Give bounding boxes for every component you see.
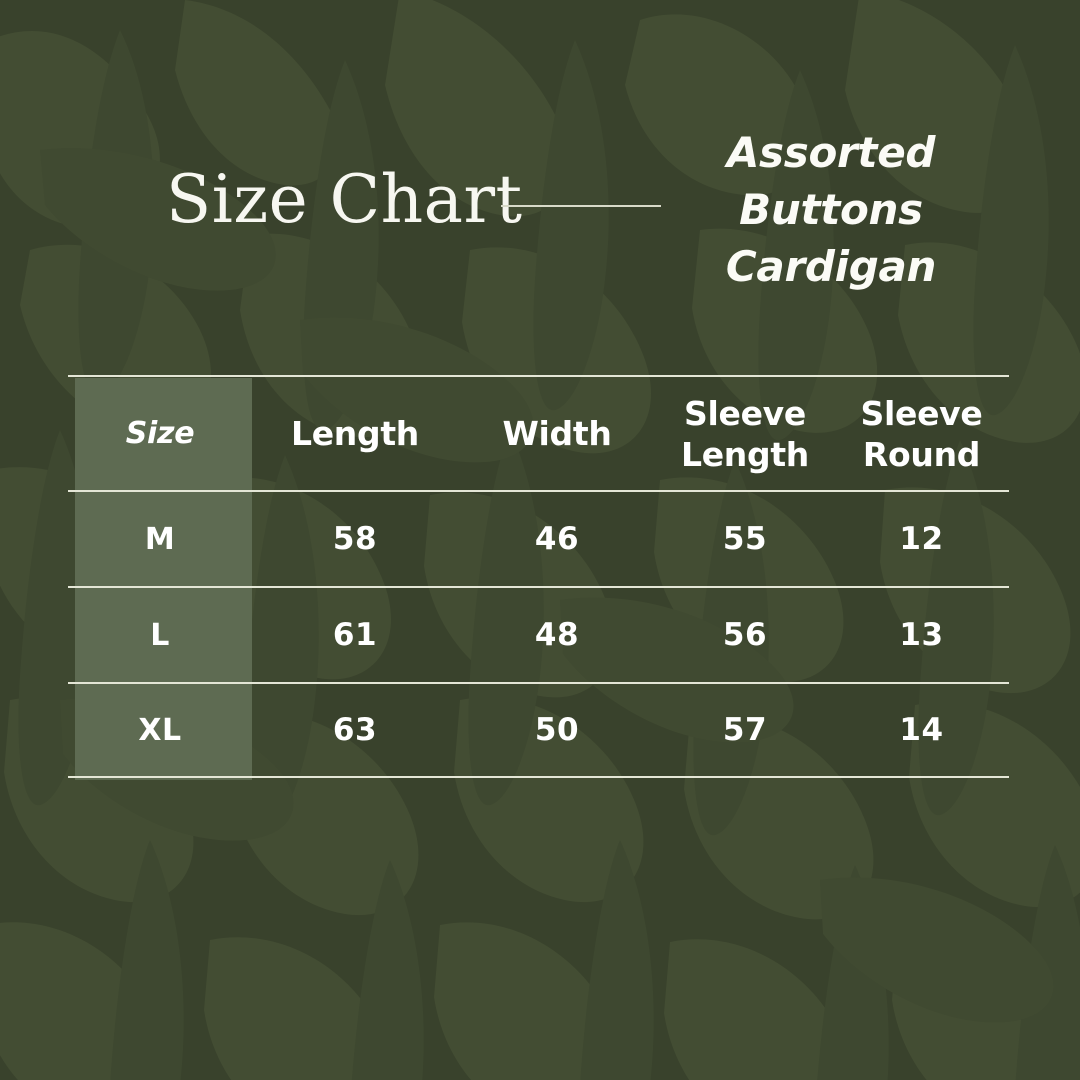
cell-size: XL (68, 713, 252, 748)
cell-sleeve-round: 14 (834, 712, 1009, 748)
table-row: M 58 46 55 12 (68, 490, 1009, 586)
cell-size: M (68, 522, 252, 557)
size-chart-table: Size Length Width Sleeve Length Sleeve R… (68, 375, 1009, 778)
cell-length: 58 (252, 521, 458, 557)
column-header-sleeve-length-line-1: Sleeve (681, 393, 809, 434)
column-header-sleeve-round-line-1: Sleeve (861, 393, 983, 434)
cell-size: L (68, 618, 252, 653)
horizontal-rule-icon (501, 205, 661, 207)
product-name-line-3: Cardigan (686, 238, 976, 295)
column-header-sleeve-round: Sleeve Round (834, 393, 1009, 475)
column-header-sleeve-length-line-2: Length (681, 434, 809, 475)
cell-width: 48 (458, 617, 656, 653)
table-row: XL 63 50 57 14 (68, 682, 1009, 778)
column-header-width: Width (458, 413, 656, 454)
product-name: Assorted Buttons Cardigan (686, 124, 976, 295)
cell-length: 61 (252, 617, 458, 653)
cell-sleeve-round: 12 (834, 521, 1009, 557)
column-header-length: Length (252, 413, 458, 454)
product-name-line-2: Buttons (686, 181, 976, 238)
product-name-line-1: Assorted (686, 124, 976, 181)
cell-length: 63 (252, 712, 458, 748)
size-chart-canvas: Size Chart Assorted Buttons Cardigan Siz… (0, 0, 1080, 1080)
page-title: Size Chart (166, 160, 523, 240)
cell-width: 50 (458, 712, 656, 748)
table-row: L 61 48 56 13 (68, 586, 1009, 682)
cell-sleeve-round: 13 (834, 617, 1009, 653)
table-header-row: Size Length Width Sleeve Length Sleeve R… (68, 375, 1009, 490)
cell-sleeve-length: 56 (656, 617, 834, 653)
header-block: Size Chart Assorted Buttons Cardigan (0, 0, 1080, 330)
column-header-sleeve-round-line-2: Round (861, 434, 983, 475)
cell-sleeve-length: 55 (656, 521, 834, 557)
column-header-size: Size (68, 413, 252, 454)
cell-sleeve-length: 57 (656, 712, 834, 748)
column-header-sleeve-length: Sleeve Length (656, 393, 834, 475)
cell-width: 46 (458, 521, 656, 557)
